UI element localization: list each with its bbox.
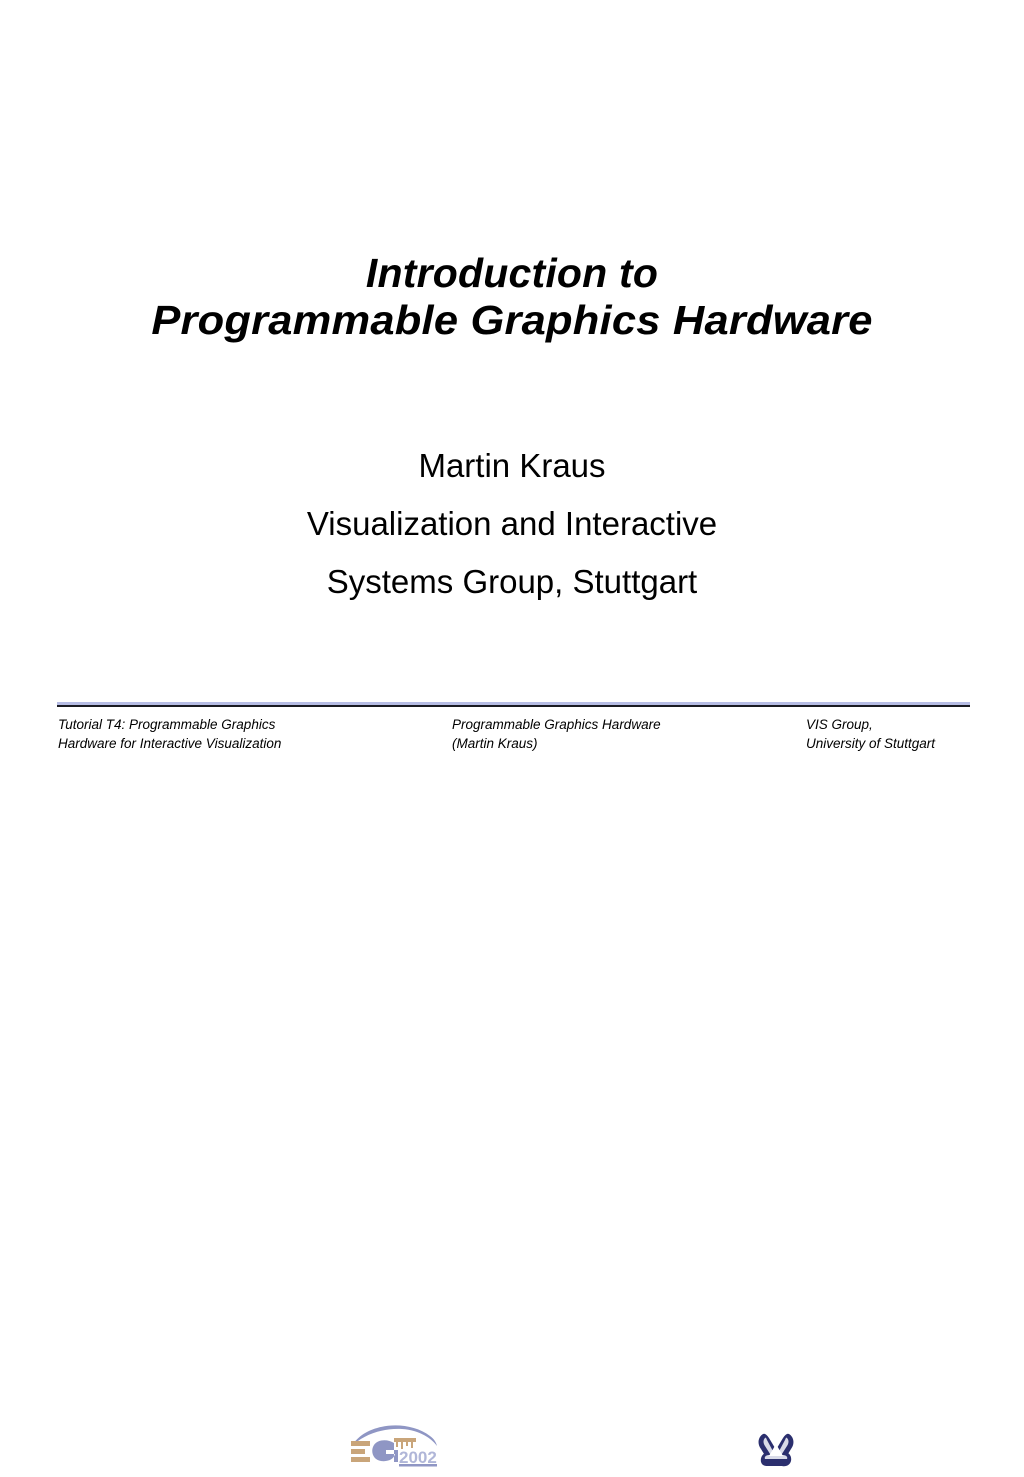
footer-right-text: VIS Group, University of Stuttgart xyxy=(806,715,1016,753)
subtitle-author: Martin Kraus xyxy=(0,437,1024,495)
subtitle-affiliation-line-2: Systems Group, Stuttgart xyxy=(0,553,1024,611)
footer-right-line-2: University of Stuttgart xyxy=(806,734,1016,753)
footer-left-line-2: Hardware for Interactive Visualization xyxy=(58,734,348,753)
page-title: Introduction to Programmable Graphics Ha… xyxy=(0,250,1024,344)
footer-left-line-1: Tutorial T4: Programmable Graphics xyxy=(58,715,348,734)
footer-center-line-2: (Martin Kraus) xyxy=(452,734,742,753)
slide-footer: Tutorial T4: Programmable Graphics Hardw… xyxy=(0,712,1024,768)
footer-left-text: Tutorial T4: Programmable Graphics Hardw… xyxy=(58,715,348,753)
footer-center-line-1: Programmable Graphics Hardware xyxy=(452,715,742,734)
slide-canvas: Introduction to Programmable Graphics Ha… xyxy=(0,0,1024,768)
slide-subtitle: Martin Kraus Visualization and Interacti… xyxy=(0,437,1024,611)
title-line-2: Programmable Graphics Hardware xyxy=(0,297,1024,344)
footer-center-text: Programmable Graphics Hardware (Martin K… xyxy=(452,715,742,753)
title-line-1: Introduction to xyxy=(0,250,1024,297)
footer-divider xyxy=(57,702,970,707)
eurographics-2002-logo: 2002 xyxy=(350,1420,448,1470)
divider-dark-stroke xyxy=(57,705,970,707)
subtitle-affiliation-line-1: Visualization and Interactive xyxy=(0,495,1024,553)
footer-right-line-1: VIS Group, xyxy=(806,715,1016,734)
university-of-stuttgart-logo xyxy=(753,1426,799,1472)
